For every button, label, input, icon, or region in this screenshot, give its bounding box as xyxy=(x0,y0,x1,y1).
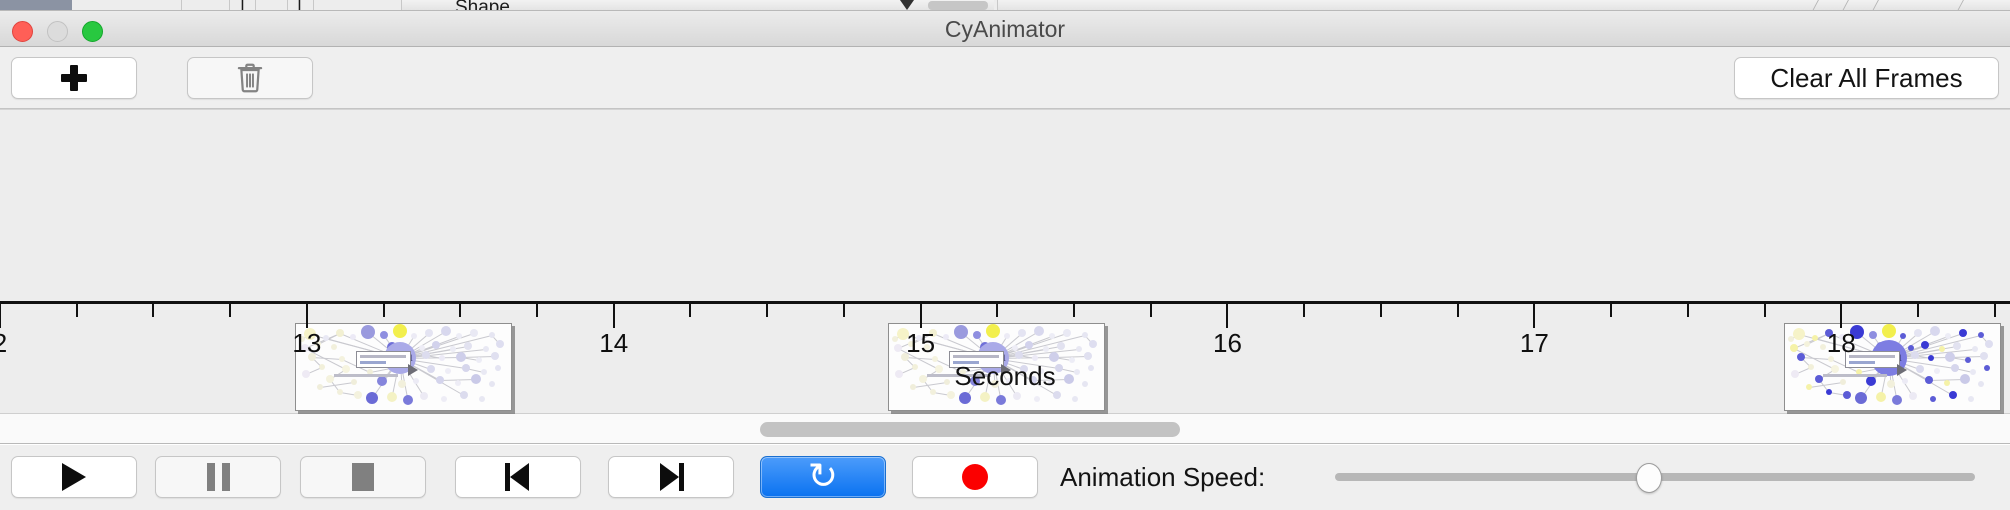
network-node xyxy=(419,345,425,351)
network-node xyxy=(432,341,440,349)
axis-tick xyxy=(843,304,845,317)
pause-icon xyxy=(207,463,230,491)
trash-icon xyxy=(235,62,265,94)
network-node xyxy=(1004,333,1010,339)
axis-tick-label: 17 xyxy=(1520,328,1549,359)
axis-tick xyxy=(689,304,691,317)
network-node xyxy=(980,392,990,402)
network-node xyxy=(393,324,407,338)
axis-tick xyxy=(306,304,308,328)
network-node xyxy=(1076,346,1082,352)
network-node xyxy=(947,391,955,399)
network-node xyxy=(411,333,417,339)
background-window-scrollbar[interactable] xyxy=(928,1,988,10)
axis-title: Seconds xyxy=(0,361,2010,392)
frame-toolbar: Clear All Frames xyxy=(0,47,2010,109)
network-node xyxy=(943,334,949,340)
axis-tick-label: 14 xyxy=(599,328,628,359)
network-node xyxy=(1820,344,1826,350)
network-node xyxy=(959,392,971,404)
timeline-scrollbar-thumb[interactable] xyxy=(760,422,1180,437)
network-node xyxy=(1968,396,1974,402)
network-node xyxy=(1949,391,1957,399)
network-node xyxy=(380,331,388,339)
network-node xyxy=(892,336,898,342)
window-title: CyAnimator xyxy=(0,11,2010,47)
network-node xyxy=(1053,391,1061,399)
network-node xyxy=(1908,345,1914,351)
background-window-marker xyxy=(900,0,914,10)
network-node xyxy=(1812,335,1818,341)
axis-tick xyxy=(1380,304,1382,317)
background-window-titlebar xyxy=(0,0,72,10)
network-node xyxy=(1057,342,1065,350)
network-node xyxy=(1788,336,1794,342)
network-node xyxy=(1978,332,1984,338)
network-node xyxy=(323,335,329,341)
axis-tick-label: 16 xyxy=(1213,328,1242,359)
play-icon xyxy=(62,463,86,491)
record-icon xyxy=(962,464,988,490)
network-node xyxy=(1015,351,1023,359)
background-window-glyph-a: | xyxy=(240,0,245,11)
network-node xyxy=(491,352,499,360)
network-node xyxy=(425,329,433,337)
title-bar[interactable]: CyAnimator xyxy=(0,11,2010,47)
plus-icon xyxy=(59,63,89,93)
network-node xyxy=(1953,342,1961,350)
background-window-glyph-b: | xyxy=(297,0,302,11)
axis-tick xyxy=(1917,304,1919,317)
network-node xyxy=(1843,391,1851,399)
network-node xyxy=(403,395,413,405)
stop-icon xyxy=(352,463,374,491)
skip-forward-icon xyxy=(658,463,684,491)
axis-tick xyxy=(459,304,461,317)
network-node xyxy=(986,324,1000,338)
network-node xyxy=(450,346,456,352)
network-node xyxy=(1972,346,1978,352)
network-node xyxy=(1063,329,1071,337)
network-node xyxy=(1072,396,1078,402)
network-node xyxy=(470,329,478,337)
axis-tick xyxy=(1994,304,1996,317)
network-node xyxy=(1797,353,1805,361)
axis-tick xyxy=(1150,304,1152,317)
network-node xyxy=(1980,352,1988,360)
axis-tick xyxy=(1764,304,1766,317)
axis-tick-label: 15 xyxy=(906,328,935,359)
network-node xyxy=(1790,344,1798,352)
network-node xyxy=(1025,341,1033,349)
network-node xyxy=(361,325,375,339)
previous-frame-button[interactable] xyxy=(455,456,581,498)
record-button[interactable] xyxy=(912,456,1038,498)
network-node xyxy=(1049,333,1055,339)
play-button[interactable] xyxy=(11,456,137,498)
network-node xyxy=(464,342,472,350)
network-node xyxy=(1930,396,1936,402)
animation-speed-slider-thumb[interactable] xyxy=(1636,463,1662,493)
network-node xyxy=(1921,341,1929,349)
network-node xyxy=(954,325,968,339)
axis-tick-label: 13 xyxy=(292,328,321,359)
delete-frame-button[interactable] xyxy=(187,57,313,99)
axis-tick xyxy=(766,304,768,317)
network-node xyxy=(350,334,356,340)
pause-button[interactable] xyxy=(155,456,281,498)
network-node xyxy=(1945,333,1951,339)
network-node xyxy=(387,392,397,402)
axis-tick-label: 2 xyxy=(0,328,7,359)
network-node xyxy=(483,346,489,352)
axis-tick xyxy=(76,304,78,317)
network-node xyxy=(973,331,981,339)
clear-all-frames-button[interactable]: Clear All Frames xyxy=(1734,57,1999,99)
network-node xyxy=(1018,329,1026,337)
network-node xyxy=(460,391,468,399)
network-node xyxy=(1804,341,1810,347)
network-node xyxy=(1882,324,1896,338)
network-node xyxy=(1939,346,1945,352)
timeline-panel[interactable]: MCM1MCM1MCM1 2131415161718 Seconds xyxy=(0,109,2010,414)
network-node xyxy=(1082,332,1088,338)
axis-tick xyxy=(1226,304,1228,328)
axis-tick xyxy=(613,304,615,328)
network-node xyxy=(1012,345,1018,351)
network-node xyxy=(1084,352,1092,360)
network-node xyxy=(1013,392,1021,400)
network-node xyxy=(479,396,485,402)
network-node xyxy=(1855,392,1867,404)
skip-back-icon xyxy=(505,463,531,491)
network-node xyxy=(996,395,1006,405)
axis-tick xyxy=(0,304,1,328)
axis-tick xyxy=(152,304,154,317)
network-node xyxy=(422,351,430,359)
background-window-label: Shape xyxy=(455,0,510,11)
network-node xyxy=(354,391,362,399)
axis-tick xyxy=(1840,304,1842,328)
axis-tick xyxy=(1457,304,1459,317)
axis-tick xyxy=(920,304,922,328)
network-node xyxy=(1930,326,1940,336)
network-node xyxy=(1900,333,1906,339)
network-node xyxy=(894,344,902,352)
background-window-strip: | | Shape xyxy=(0,0,2010,11)
network-node xyxy=(336,329,344,337)
network-node xyxy=(1892,395,1902,405)
cyanimator-window: | | Shape CyAnimator xyxy=(0,0,2010,510)
axis-tick xyxy=(1533,304,1535,328)
network-node xyxy=(331,344,337,350)
network-node xyxy=(1959,329,1967,337)
network-node xyxy=(420,392,428,400)
network-node xyxy=(1911,351,1919,359)
network-node xyxy=(1985,340,1993,348)
network-node xyxy=(489,332,495,338)
network-node xyxy=(496,340,504,348)
axis-tick-label: 18 xyxy=(1827,328,1856,359)
animation-speed-label: Animation Speed: xyxy=(1060,456,1265,498)
network-node xyxy=(366,392,378,404)
playback-bar: ↻ Animation Speed: xyxy=(0,445,2010,510)
axis-tick xyxy=(1610,304,1612,317)
network-node xyxy=(456,333,462,339)
axis-tick xyxy=(1073,304,1075,317)
axis-tick xyxy=(536,304,538,317)
network-node xyxy=(1089,340,1097,348)
loop-icon: ↻ xyxy=(808,459,838,495)
next-frame-button[interactable] xyxy=(608,456,734,498)
network-node xyxy=(1034,396,1040,402)
timeline-scrollbar-track[interactable] xyxy=(0,414,2010,444)
timeline-top-divider xyxy=(0,109,2010,110)
axis-tick xyxy=(996,304,998,317)
network-node xyxy=(441,326,451,336)
axis-tick xyxy=(229,304,231,317)
network-node xyxy=(441,396,447,402)
network-node xyxy=(1043,346,1049,352)
axis-tick xyxy=(1687,304,1689,317)
axis-tick xyxy=(1303,304,1305,317)
add-frame-button[interactable] xyxy=(11,57,137,99)
stop-button[interactable] xyxy=(300,456,426,498)
network-node xyxy=(1876,392,1886,402)
network-node xyxy=(1869,331,1877,339)
timeline-axis-line xyxy=(0,301,2010,304)
network-node xyxy=(1914,329,1922,337)
network-node xyxy=(1034,326,1044,336)
network-node xyxy=(1909,392,1917,400)
axis-tick xyxy=(383,304,385,317)
loop-button[interactable]: ↻ xyxy=(760,456,886,498)
network-node xyxy=(1793,328,1805,340)
